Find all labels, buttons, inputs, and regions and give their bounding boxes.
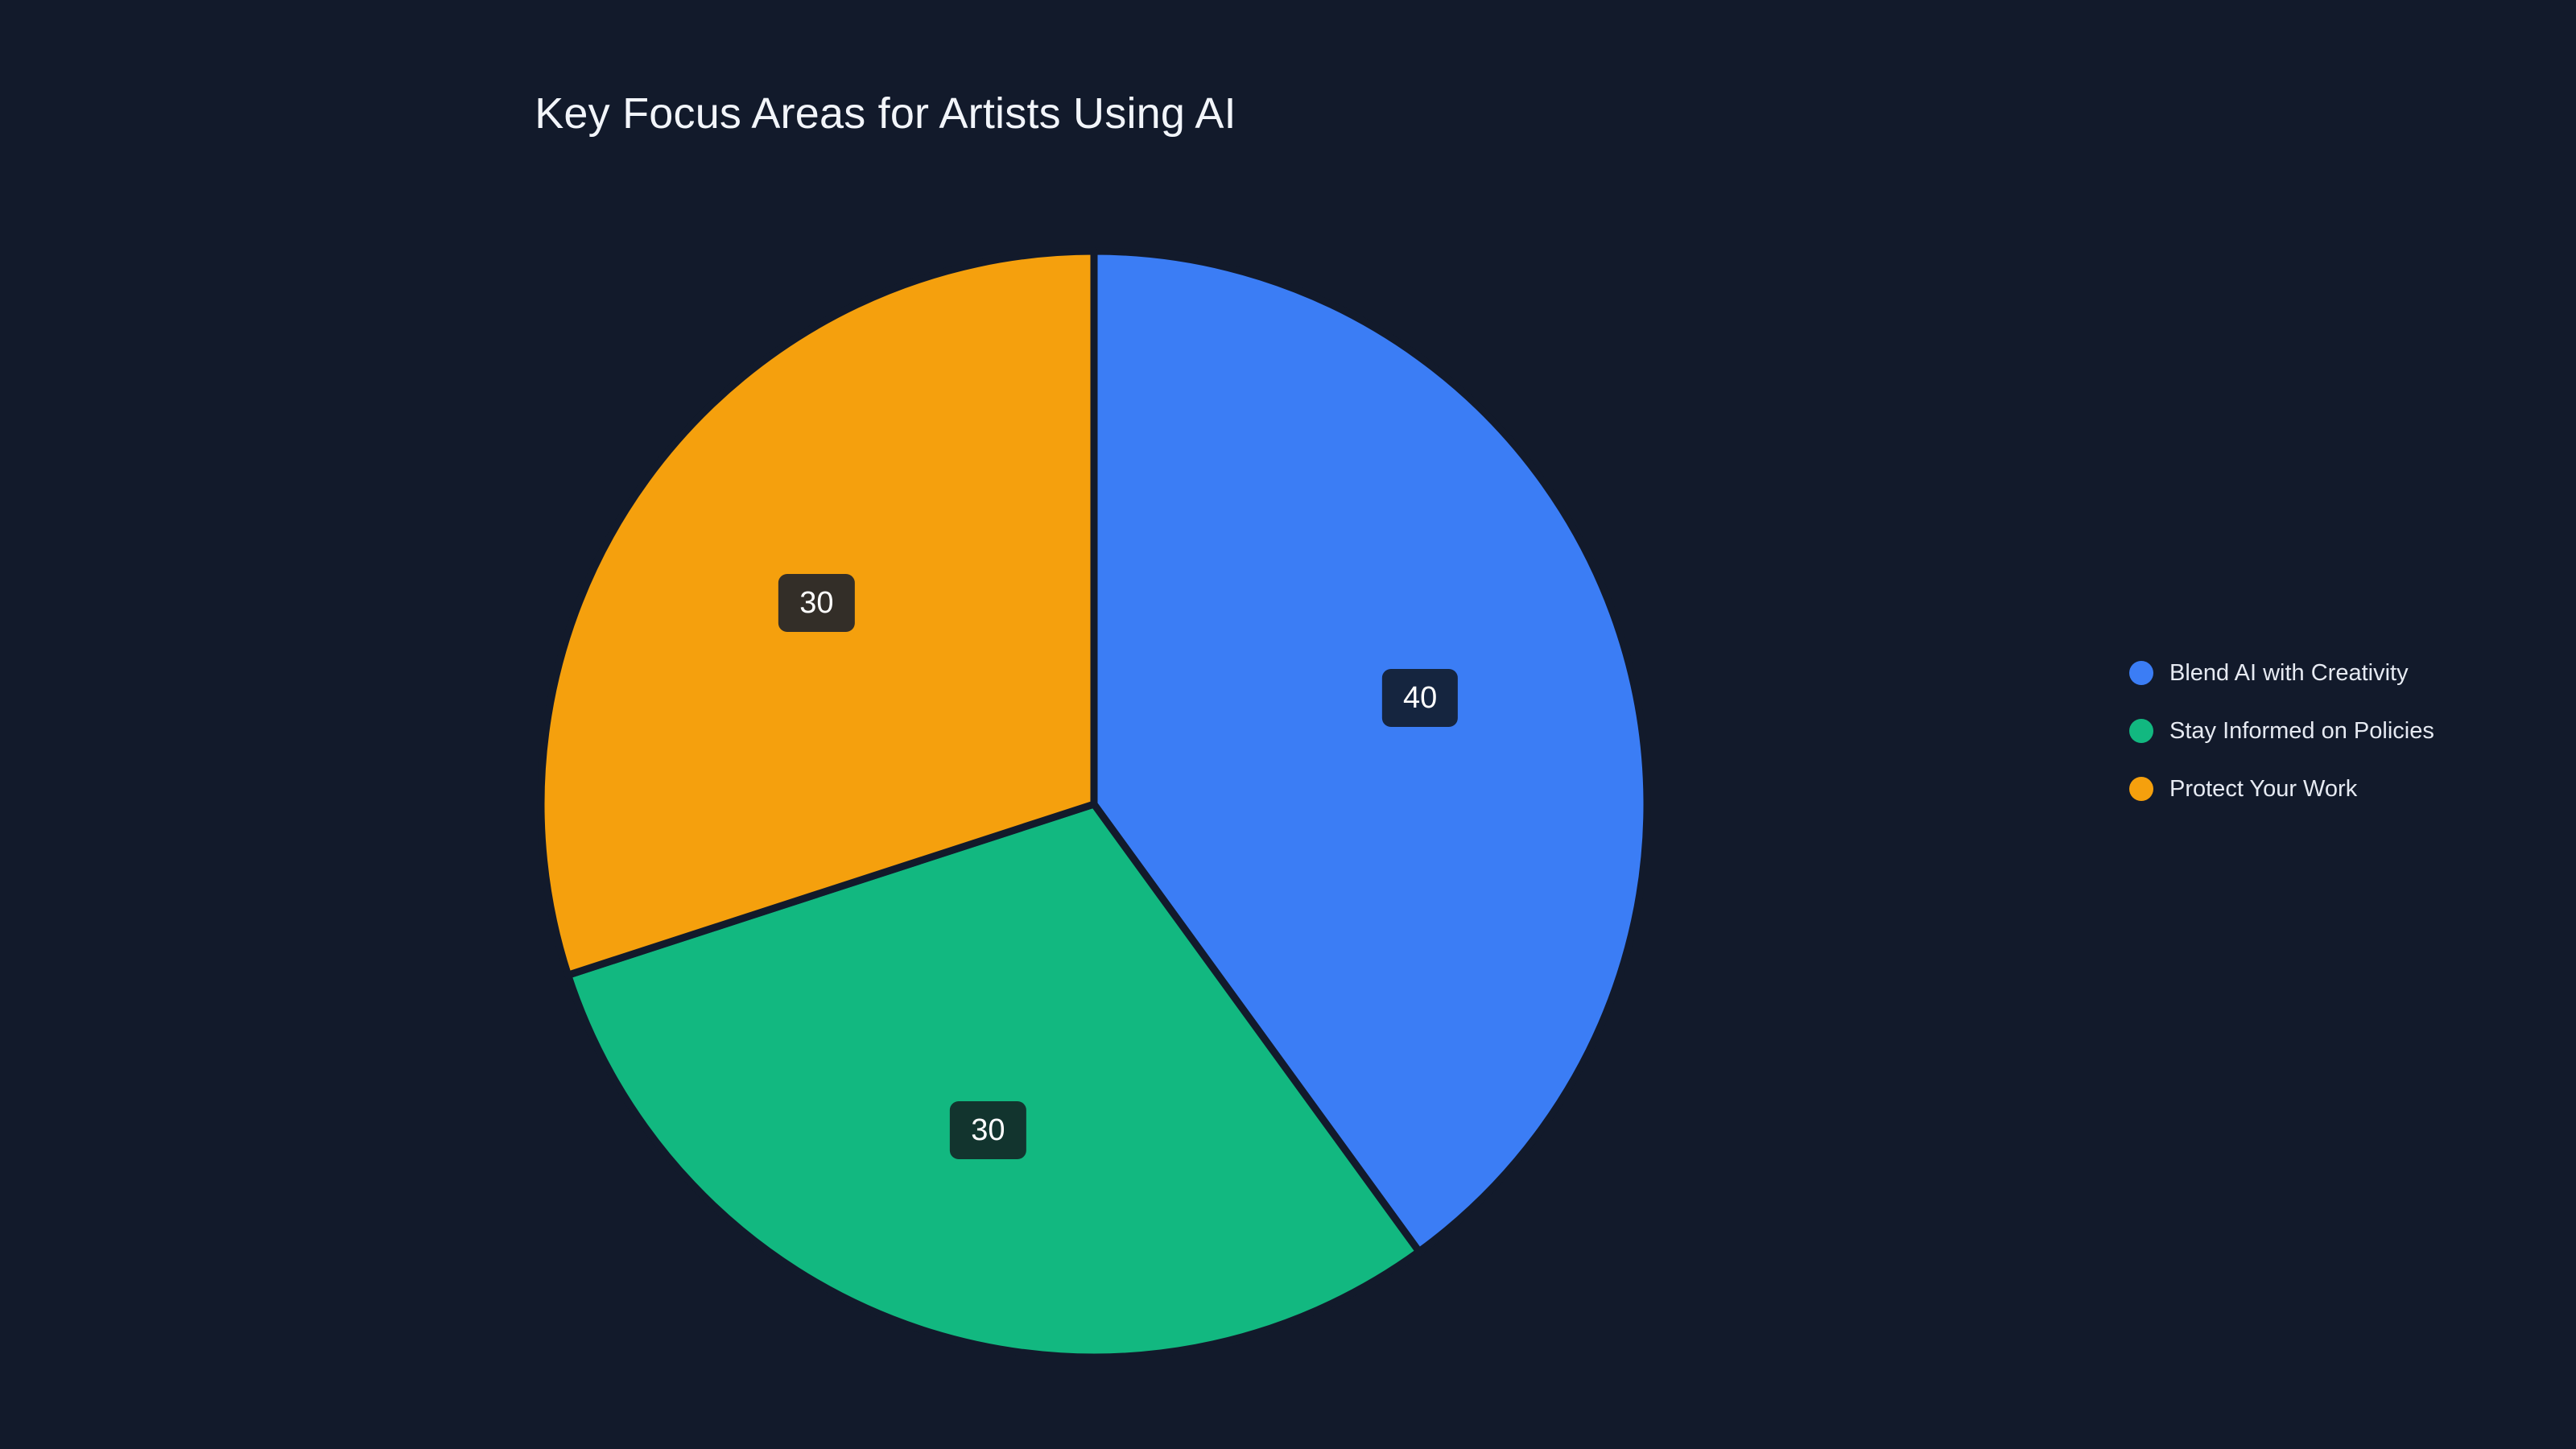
pie-slices <box>541 251 1647 1357</box>
legend-item[interactable]: Protect Your Work <box>2129 760 2548 818</box>
legend-item[interactable]: Blend AI with Creativity <box>2129 644 2548 702</box>
legend-marker-icon <box>2129 777 2153 801</box>
chart-legend: Blend AI with CreativityStay Informed on… <box>2129 644 2548 818</box>
legend-item-label: Blend AI with Creativity <box>2169 660 2409 687</box>
legend-marker-icon <box>2129 661 2153 685</box>
legend-item-label: Protect Your Work <box>2169 776 2357 803</box>
legend-item[interactable]: Stay Informed on Policies <box>2129 702 2548 760</box>
pie-chart-figure: Key Focus Areas for Artists Using AI 403… <box>0 0 2576 1449</box>
legend-item-label: Stay Informed on Policies <box>2169 718 2434 745</box>
legend-marker-icon <box>2129 719 2153 743</box>
